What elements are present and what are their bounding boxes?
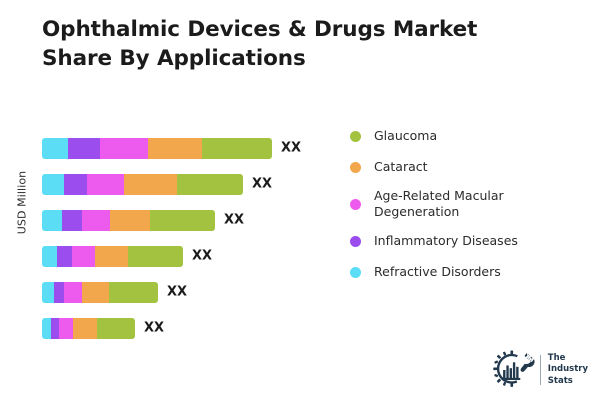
- bar-segment[interactable]: [82, 210, 110, 231]
- legend-item[interactable]: Cataract: [350, 157, 580, 177]
- legend-swatch-icon: [350, 199, 361, 210]
- bar-row[interactable]: [42, 318, 135, 339]
- legend-swatch-icon: [350, 131, 361, 142]
- bar-segment[interactable]: [51, 318, 59, 339]
- bar-segment[interactable]: [54, 282, 64, 303]
- bar-segment[interactable]: [95, 246, 128, 267]
- bar-segment[interactable]: [62, 210, 82, 231]
- logo-text-line-2: Industry: [548, 364, 588, 374]
- bar-segment[interactable]: [59, 318, 73, 339]
- bar-segment[interactable]: [177, 174, 243, 195]
- legend-swatch-icon: [350, 162, 361, 173]
- legend-item-label: Inflammatory Diseases: [374, 233, 518, 249]
- bar-segment[interactable]: [72, 246, 95, 267]
- bar-segment[interactable]: [57, 246, 72, 267]
- bar-value-label: XX: [224, 213, 244, 228]
- bar-segment[interactable]: [64, 174, 87, 195]
- bar-row[interactable]: [42, 210, 215, 231]
- bar-segment[interactable]: [42, 246, 57, 267]
- bar-segment[interactable]: [42, 282, 54, 303]
- bar-segment[interactable]: [97, 318, 135, 339]
- legend-item[interactable]: Refractive Disorders: [350, 262, 580, 282]
- legend-item-label: Refractive Disorders: [374, 264, 501, 280]
- legend-item-label: Cataract: [374, 159, 428, 175]
- logo-text-line-3: Stats: [548, 376, 573, 386]
- bar-segment[interactable]: [148, 138, 202, 159]
- logo-text: The Industry Stats: [548, 353, 588, 387]
- bar-value-label: XX: [252, 177, 272, 192]
- bar-row[interactable]: [42, 282, 158, 303]
- bar-segment[interactable]: [42, 138, 68, 159]
- bar-value-label: XX: [192, 249, 212, 264]
- bar-segment[interactable]: [82, 282, 109, 303]
- bar-row[interactable]: [42, 174, 243, 195]
- legend-item[interactable]: Inflammatory Diseases: [350, 231, 580, 251]
- bar-row[interactable]: [42, 138, 272, 159]
- bar-row[interactable]: [42, 246, 183, 267]
- bar-segment[interactable]: [87, 174, 124, 195]
- bar-segment[interactable]: [42, 318, 51, 339]
- logo-divider: [540, 355, 541, 385]
- bar-segment[interactable]: [64, 282, 82, 303]
- legend-swatch-icon: [350, 267, 361, 278]
- bar-segment[interactable]: [150, 210, 215, 231]
- legend-item[interactable]: Glaucoma: [350, 126, 580, 146]
- legend-item-label: Age-Related Macular Degeneration: [374, 188, 580, 220]
- bar-segment[interactable]: [202, 138, 272, 159]
- bar-segment[interactable]: [42, 174, 64, 195]
- bar-segment[interactable]: [73, 318, 97, 339]
- plot-area: XXXXXXXXXXXX: [0, 0, 330, 400]
- bar-value-label: XX: [167, 285, 187, 300]
- bar-value-label: XX: [144, 321, 164, 336]
- industry-stats-gear-icon: [492, 350, 536, 390]
- legend-item-label: Glaucoma: [374, 128, 437, 144]
- bar-segment[interactable]: [42, 210, 62, 231]
- bar-segment[interactable]: [100, 138, 148, 159]
- chart-container: Ophthalmic Devices & Drugs Market Share …: [0, 0, 600, 400]
- bar-segment[interactable]: [110, 210, 150, 231]
- chart-legend: GlaucomaCataractAge-Related Macular Dege…: [350, 126, 580, 293]
- bar-value-label: XX: [281, 141, 301, 156]
- bar-segment[interactable]: [124, 174, 177, 195]
- brand-logo: The Industry Stats: [492, 350, 588, 390]
- bar-segment[interactable]: [68, 138, 100, 159]
- legend-item[interactable]: Age-Related Macular Degeneration: [350, 188, 580, 220]
- logo-text-line-1: The: [548, 353, 566, 363]
- bar-segment[interactable]: [128, 246, 183, 267]
- bar-segment[interactable]: [109, 282, 158, 303]
- legend-swatch-icon: [350, 236, 361, 247]
